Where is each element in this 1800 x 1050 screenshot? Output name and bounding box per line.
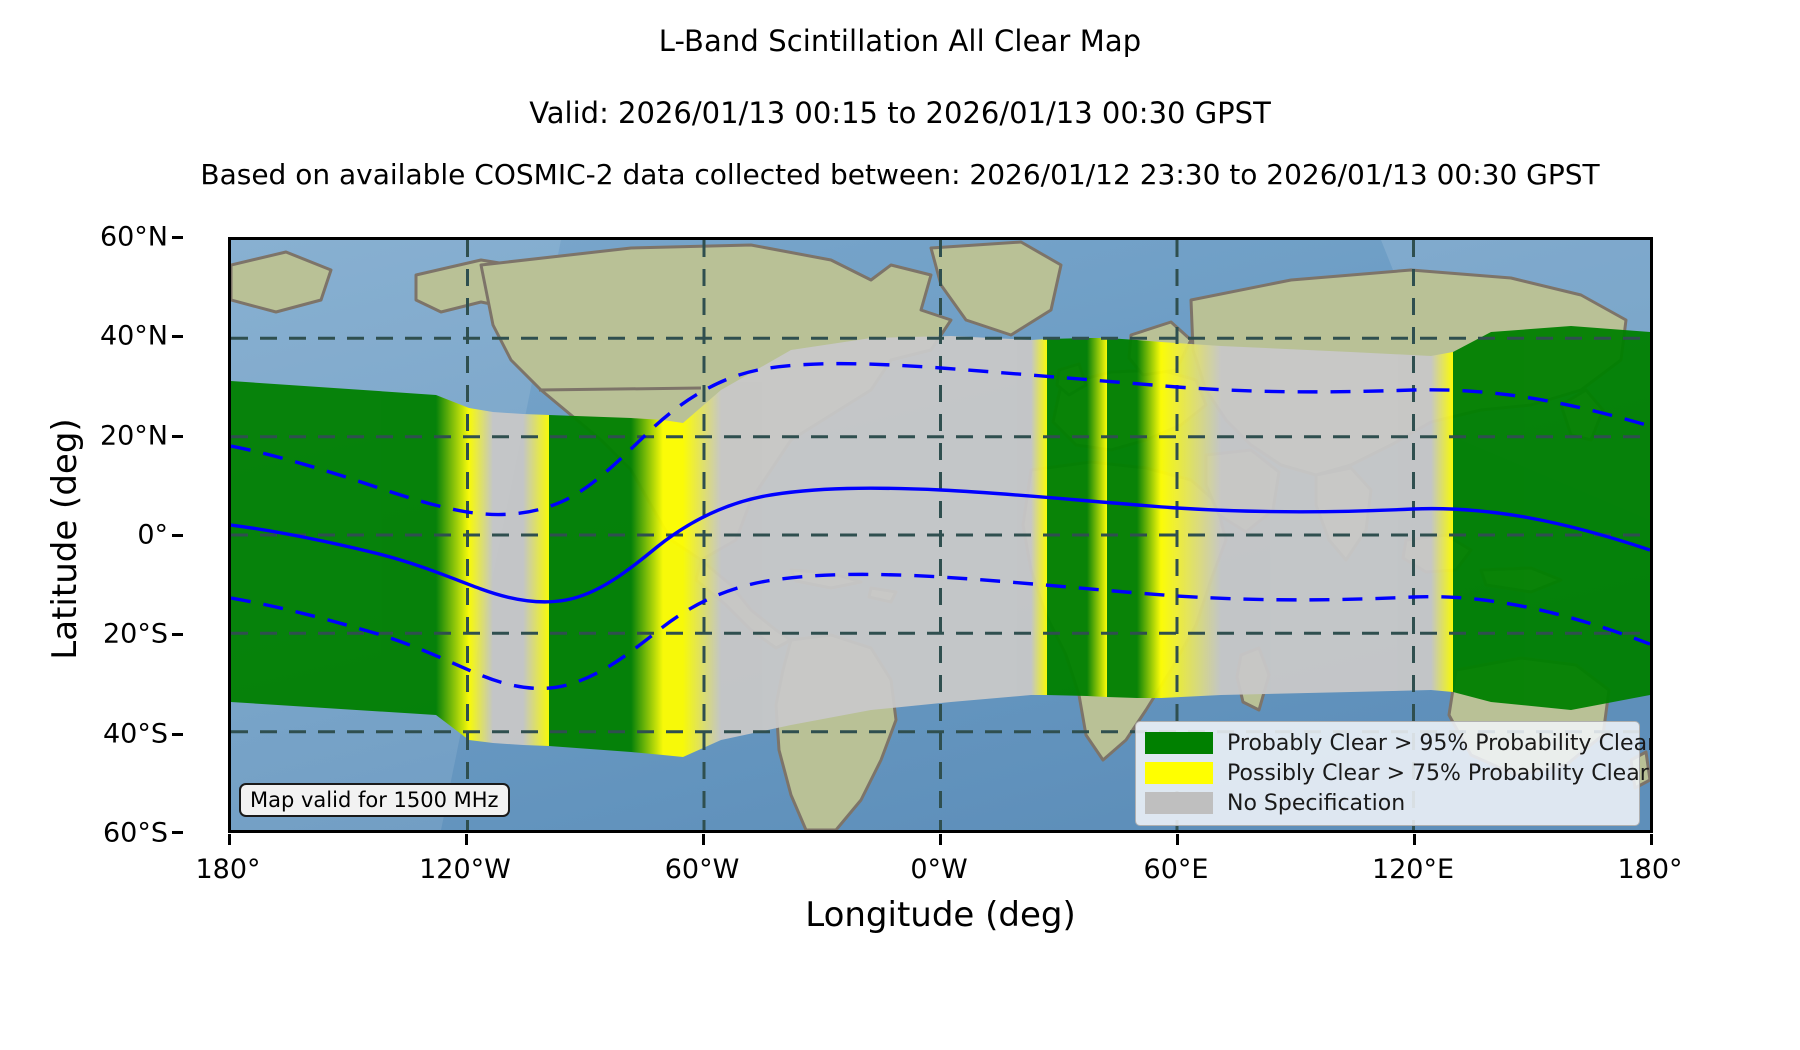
band-blend-yn-2 bbox=[1161, 342, 1221, 698]
x-tick-label-180W: 180° bbox=[195, 854, 260, 885]
legend-label-possibly-clear: Possibly Clear > 75% Probability Clear bbox=[1227, 761, 1649, 786]
legend-row-no-specification: No Specification bbox=[1145, 788, 1630, 818]
legend-swatch-no-specification bbox=[1145, 792, 1213, 814]
x-tick-label-0: 0°W bbox=[910, 854, 967, 885]
band-possibly-clear-1 bbox=[469, 408, 493, 743]
figure-canvas: L-Band Scintillation All Clear Map Valid… bbox=[0, 0, 1800, 1050]
y-tick-label-20N: 20°N bbox=[100, 420, 168, 451]
band-possibly-clear-4 bbox=[1031, 339, 1047, 695]
y-tick-label-60S: 60°S bbox=[103, 818, 168, 849]
band-probably-clear-3 bbox=[1047, 338, 1087, 696]
y-axis-title: Latitude (deg) bbox=[45, 339, 85, 739]
band-blend-gy-4 bbox=[1137, 340, 1161, 698]
band-blend-gy-1 bbox=[436, 395, 469, 740]
legend-swatch-probably-clear bbox=[1145, 732, 1213, 754]
y-tick-label-60N: 60°N bbox=[100, 222, 168, 253]
x-axis-labels: 180° 120°W 60°W 0°W 60°E 120°E 180° bbox=[228, 848, 1653, 898]
frequency-annotation: Map valid for 1500 MHz bbox=[239, 783, 510, 817]
x-tick-mark-60W bbox=[702, 834, 705, 845]
x-tick-mark-120E bbox=[1413, 834, 1416, 845]
y-tick-mark-60S bbox=[172, 831, 183, 834]
x-tick-label-60W: 60°W bbox=[665, 854, 740, 885]
band-probably-clear-east bbox=[1453, 326, 1650, 710]
y-tick-mark-40S bbox=[172, 733, 183, 736]
x-tick-label-120E: 120°E bbox=[1372, 854, 1454, 885]
x-tick-mark-0 bbox=[939, 834, 942, 845]
y-tick-label-40N: 40°N bbox=[100, 321, 168, 352]
band-no-spec-3 bbox=[1221, 346, 1431, 695]
x-tick-label-120W: 120°W bbox=[419, 854, 511, 885]
chart-title: L-Band Scintillation All Clear Map bbox=[0, 24, 1800, 58]
x-tick-mark-120W bbox=[465, 834, 468, 845]
border-line bbox=[539, 388, 701, 390]
band-no-spec-1 bbox=[493, 412, 523, 745]
band-no-spec-2 bbox=[721, 336, 1031, 740]
legend-swatch-possibly-clear bbox=[1145, 762, 1213, 784]
legend-row-probably-clear: Probably Clear > 95% Probability Clear bbox=[1145, 728, 1630, 758]
y-tick-label-20S: 20°S bbox=[103, 619, 168, 650]
map-plot-area: Probably Clear > 95% Probability Clear P… bbox=[228, 237, 1653, 833]
y-tick-mark-20N bbox=[172, 435, 183, 438]
band-blend-gy-2 bbox=[631, 418, 663, 755]
band-blend-yn-1 bbox=[683, 390, 721, 757]
band-probably-clear-2 bbox=[549, 415, 631, 752]
band-probably-clear-4 bbox=[1107, 338, 1137, 698]
x-tick-label-60E: 60°E bbox=[1144, 854, 1209, 885]
band-possibly-clear-3 bbox=[663, 420, 683, 757]
band-blend-gy-3 bbox=[1087, 338, 1107, 697]
x-tick-mark-60E bbox=[1176, 834, 1179, 845]
y-tick-mark-40N bbox=[172, 335, 183, 338]
legend-label-probably-clear: Probably Clear > 95% Probability Clear bbox=[1227, 731, 1653, 756]
chart-subtitle-valid: Valid: 2026/01/13 00:15 to 2026/01/13 00… bbox=[0, 96, 1800, 130]
band-possibly-clear-5 bbox=[1431, 352, 1453, 692]
y-tick-mark-20S bbox=[172, 633, 183, 636]
x-tick-label-180E: 180° bbox=[1617, 854, 1682, 885]
map-legend: Probably Clear > 95% Probability Clear P… bbox=[1135, 721, 1640, 826]
legend-row-possibly-clear: Possibly Clear > 75% Probability Clear bbox=[1145, 758, 1630, 788]
legend-label-no-specification: No Specification bbox=[1227, 791, 1405, 816]
x-tick-mark-180W bbox=[228, 834, 231, 845]
chart-subtitle-source: Based on available COSMIC-2 data collect… bbox=[0, 158, 1800, 191]
x-axis-title: Longitude (deg) bbox=[228, 895, 1653, 935]
y-tick-mark-60N bbox=[172, 236, 183, 239]
band-possibly-clear-2 bbox=[523, 414, 549, 746]
y-tick-label-40S: 40°S bbox=[103, 718, 168, 749]
x-tick-mark-180E bbox=[1650, 834, 1653, 845]
